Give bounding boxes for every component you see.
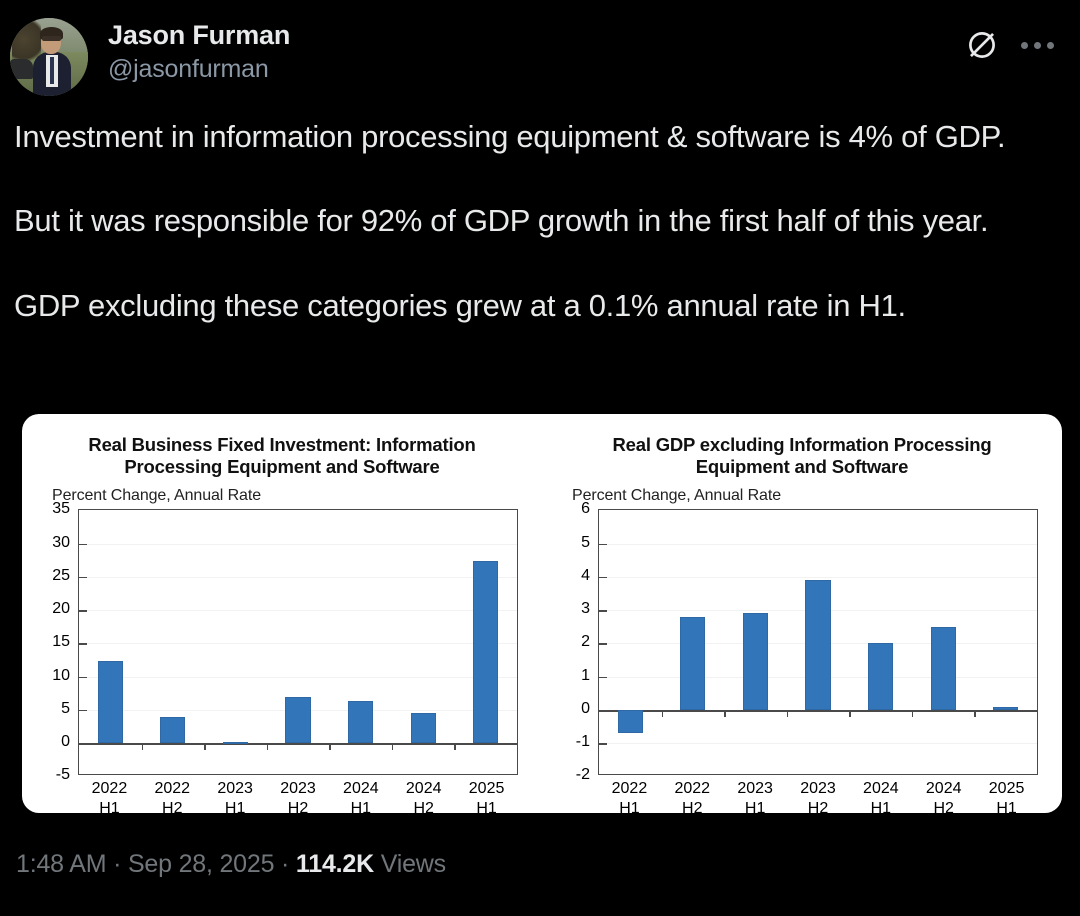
- y-tick-label: 5: [61, 700, 70, 718]
- x-tick-mark: [204, 743, 206, 750]
- x-tick-mark: [267, 743, 269, 750]
- timestamp-date: Sep 28, 2025: [128, 850, 274, 878]
- x-tick-mark: [974, 710, 976, 717]
- y-tick-mark: [599, 577, 607, 579]
- y-tick-mark: [79, 710, 87, 712]
- x-tick-mark: [849, 710, 851, 717]
- zero-axis-line: [599, 710, 1037, 712]
- plot-area-left: [78, 509, 518, 775]
- avatar-tie: [50, 57, 55, 84]
- bar: [473, 561, 498, 743]
- header-actions: [965, 16, 1064, 62]
- chart-subtitle-right: Percent Change, Annual Rate: [572, 487, 1054, 505]
- author-names: Jason Furman @jasonfurman: [108, 16, 290, 84]
- author-handle[interactable]: @jasonfurman: [108, 55, 290, 85]
- x-tick-label: 2023 H2: [280, 779, 316, 813]
- x-tick-label: 2023 H1: [217, 779, 253, 813]
- tweet-container: Jason Furman @jasonfurman Investment in …: [0, 0, 1080, 916]
- bar: [411, 713, 436, 744]
- bar: [348, 701, 373, 743]
- x-tick-label: 2024 H2: [926, 779, 962, 813]
- y-tick-label: 4: [581, 567, 590, 585]
- bar: [993, 707, 1018, 710]
- y-tick-label: 25: [52, 567, 70, 585]
- y-tick-label: 1: [581, 667, 590, 685]
- bar: [285, 697, 310, 743]
- bar: [223, 742, 248, 744]
- x-tick-mark: [912, 710, 914, 717]
- y-tick-mark: [599, 743, 607, 745]
- footer-sep-1: ·: [106, 850, 128, 878]
- y-tick-mark: [79, 544, 87, 546]
- more-dot-3: [1047, 42, 1054, 49]
- y-tick-label: 2: [581, 633, 590, 651]
- chart-title-right: Real GDP excluding Information Processin…: [568, 434, 1036, 478]
- gridline: [599, 743, 1037, 744]
- y-tick-mark: [599, 677, 607, 679]
- chart-subtitle-left: Percent Change, Annual Rate: [52, 487, 534, 505]
- bar: [931, 627, 956, 710]
- x-tick-label: 2025 H1: [469, 779, 505, 813]
- y-tick-label: 0: [581, 700, 590, 718]
- more-dot-2: [1034, 42, 1041, 49]
- x-tick-label: 2023 H1: [737, 779, 773, 813]
- plot-wrapper-right: 6543210-1-2 2022 H12022 H22023 H12023 H2…: [564, 509, 1040, 809]
- y-tick-label: 6: [581, 500, 590, 518]
- avatar-car: [10, 59, 33, 79]
- footer-sep-2: ·: [274, 850, 296, 878]
- plot-wrapper-left: 35302520151050-5 2022 H12022 H22023 H120…: [44, 509, 520, 809]
- grok-icon[interactable]: [965, 28, 999, 62]
- y-tick-mark: [599, 544, 607, 546]
- zero-axis-line: [79, 743, 517, 745]
- plot-area-right: [598, 509, 1038, 775]
- gridline: [79, 643, 517, 644]
- views-label: Views: [374, 850, 446, 878]
- y-tick-label: 3: [581, 600, 590, 618]
- y-tick-label: 10: [52, 667, 70, 685]
- x-tick-mark: [329, 743, 331, 750]
- x-tick-mark: [787, 710, 789, 717]
- y-tick-label: -2: [576, 766, 590, 784]
- more-options-icon[interactable]: [1021, 42, 1054, 49]
- chart-panel-left: Real Business Fixed Investment: Informat…: [22, 414, 542, 813]
- x-tick-label: 2022 H1: [92, 779, 128, 813]
- bar: [98, 661, 123, 743]
- x-tick-label: 2022 H2: [154, 779, 190, 813]
- x-tick-mark: [392, 743, 394, 750]
- views-count: 114.2K: [296, 850, 374, 878]
- gridline: [79, 544, 517, 545]
- x-tick-label: 2025 H1: [989, 779, 1025, 813]
- y-tick-label: -5: [56, 766, 70, 784]
- tweet-footer: 1:48 AM · Sep 28, 2025 · 114.2K Views: [16, 850, 446, 879]
- bar: [868, 643, 893, 710]
- y-tick-mark: [79, 677, 87, 679]
- y-tick-label: 30: [52, 534, 70, 552]
- gridline: [79, 677, 517, 678]
- y-tick-label: 0: [61, 733, 70, 751]
- gridline: [599, 577, 1037, 578]
- y-tick-mark: [79, 577, 87, 579]
- bar: [680, 617, 705, 710]
- avatar[interactable]: [10, 18, 88, 96]
- gridline: [79, 610, 517, 611]
- y-tick-label: 20: [52, 600, 70, 618]
- y-tick-mark: [79, 610, 87, 612]
- y-tick-label: 5: [581, 534, 590, 552]
- chart-card[interactable]: Real Business Fixed Investment: Informat…: [22, 414, 1062, 813]
- y-tick-label: 15: [52, 633, 70, 651]
- timestamp-time: 1:48 AM: [16, 850, 106, 878]
- y-tick-mark: [79, 643, 87, 645]
- tweet-header: Jason Furman @jasonfurman: [0, 0, 1080, 106]
- bar: [160, 717, 185, 744]
- x-axis-labels-right: 2022 H12022 H22023 H12023 H22024 H12024 …: [598, 779, 1038, 813]
- x-tick-label: 2024 H1: [863, 779, 899, 813]
- bar: [805, 580, 830, 710]
- x-tick-mark: [142, 743, 144, 750]
- chart-title-left: Real Business Fixed Investment: Informat…: [48, 434, 516, 478]
- x-tick-label: 2024 H2: [406, 779, 442, 813]
- bar: [743, 613, 768, 709]
- x-tick-label: 2022 H1: [612, 779, 648, 813]
- x-tick-mark: [454, 743, 456, 750]
- gridline: [79, 577, 517, 578]
- x-axis-labels-left: 2022 H12022 H22023 H12023 H22024 H12024 …: [78, 779, 518, 813]
- x-tick-label: 2023 H2: [800, 779, 836, 813]
- x-tick-label: 2024 H1: [343, 779, 379, 813]
- x-tick-label: 2022 H2: [674, 779, 710, 813]
- tweet-text: Investment in information processing equ…: [0, 106, 1080, 327]
- bar: [618, 710, 643, 733]
- y-tick-label: 35: [52, 500, 70, 518]
- more-dot-1: [1021, 42, 1028, 49]
- y-axis-labels-left: 35302520151050-5: [44, 509, 74, 775]
- author-display-name[interactable]: Jason Furman: [108, 20, 290, 52]
- x-tick-mark: [724, 710, 726, 717]
- gridline: [599, 544, 1037, 545]
- x-tick-mark: [662, 710, 664, 717]
- avatar-glasses: [42, 36, 61, 41]
- y-tick-mark: [599, 643, 607, 645]
- chart-panel-right: Real GDP excluding Information Processin…: [542, 414, 1062, 813]
- y-tick-label: -1: [576, 733, 590, 751]
- y-axis-labels-right: 6543210-1-2: [564, 509, 594, 775]
- y-tick-mark: [599, 610, 607, 612]
